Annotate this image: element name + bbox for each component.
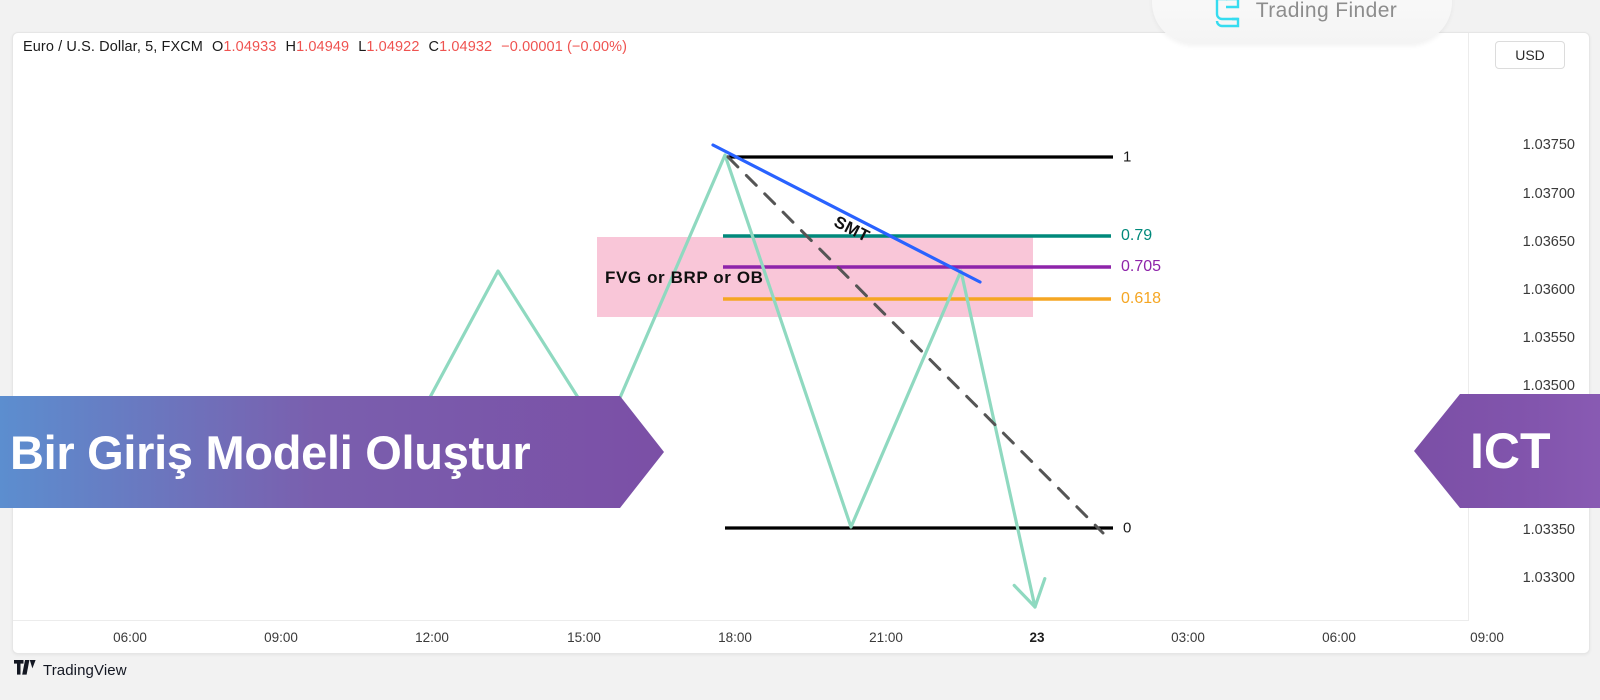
time-tick-label: 12:00 — [415, 630, 449, 645]
price-tick-label: 1.03650 — [1523, 234, 1575, 250]
chart-panel: Euro / U.S. Dollar, 5, FXCMO1.04933H1.04… — [12, 32, 1590, 654]
time-tick-label: 06:00 — [113, 630, 147, 645]
series-price-zigzag — [400, 155, 1035, 607]
currency-badge[interactable]: USD — [1495, 41, 1565, 69]
tradingview-wordmark: TradingView — [43, 662, 127, 679]
trading-finder-brand-name: Trading Finder — [1256, 0, 1397, 23]
price-tick-label: 1.03600 — [1523, 282, 1575, 298]
time-tick-label: 09:00 — [264, 630, 298, 645]
price-tick-label: 1.03300 — [1523, 570, 1575, 586]
time-tick-label: 18:00 — [718, 630, 752, 645]
fib-level-label-0.79: 0.79 — [1121, 227, 1152, 245]
tradingview-logo-icon — [14, 660, 36, 680]
time-scale[interactable]: 06:0009:0012:0015:0018:0021:002303:0006:… — [13, 620, 1469, 653]
trading-finder-brand-plate: Trading Finder — [1152, 0, 1452, 44]
price-tick-label: 1.03700 — [1523, 186, 1575, 202]
plot-svg — [13, 33, 1469, 621]
fib-level-label-1: 1 — [1123, 149, 1131, 166]
screenshot-root: Euro / U.S. Dollar, 5, FXCMO1.04933H1.04… — [0, 0, 1600, 700]
time-tick-label: 06:00 — [1322, 630, 1356, 645]
banner-left-cta: Bir Giriş Modeli Oluştur — [0, 396, 664, 508]
banner-left-text: Bir Giriş Modeli Oluştur — [10, 425, 530, 480]
fib-level-label-0.618: 0.618 — [1121, 290, 1161, 308]
time-tick-label: 21:00 — [869, 630, 903, 645]
price-scale[interactable]: USD 1.037501.037001.036501.036001.035501… — [1468, 33, 1589, 653]
price-tick-label: 1.03500 — [1523, 378, 1575, 394]
price-tick-label: 1.03750 — [1523, 137, 1575, 153]
time-tick-label: 15:00 — [567, 630, 601, 645]
banner-right-text: ICT — [1470, 422, 1551, 480]
time-tick-label: 03:00 — [1171, 630, 1205, 645]
fib-level-label-0: 0 — [1123, 520, 1131, 537]
entry-zone-label: FVG or BRP or OB — [605, 268, 764, 288]
series-projection-dashed — [728, 157, 1103, 533]
trading-finder-logo-icon — [1207, 0, 1245, 35]
price-tick-label: 1.03550 — [1523, 330, 1575, 346]
time-tick-label: 09:00 — [1470, 630, 1504, 645]
time-tick-label: 23 — [1029, 630, 1044, 645]
tradingview-footer[interactable]: TradingView — [14, 660, 127, 680]
plot-area[interactable]: 10.790.7050.6180FVG or BRP or OBSMT — [13, 33, 1469, 621]
price-tick-label: 1.03350 — [1523, 522, 1575, 538]
fib-level-label-0.705: 0.705 — [1121, 258, 1161, 276]
